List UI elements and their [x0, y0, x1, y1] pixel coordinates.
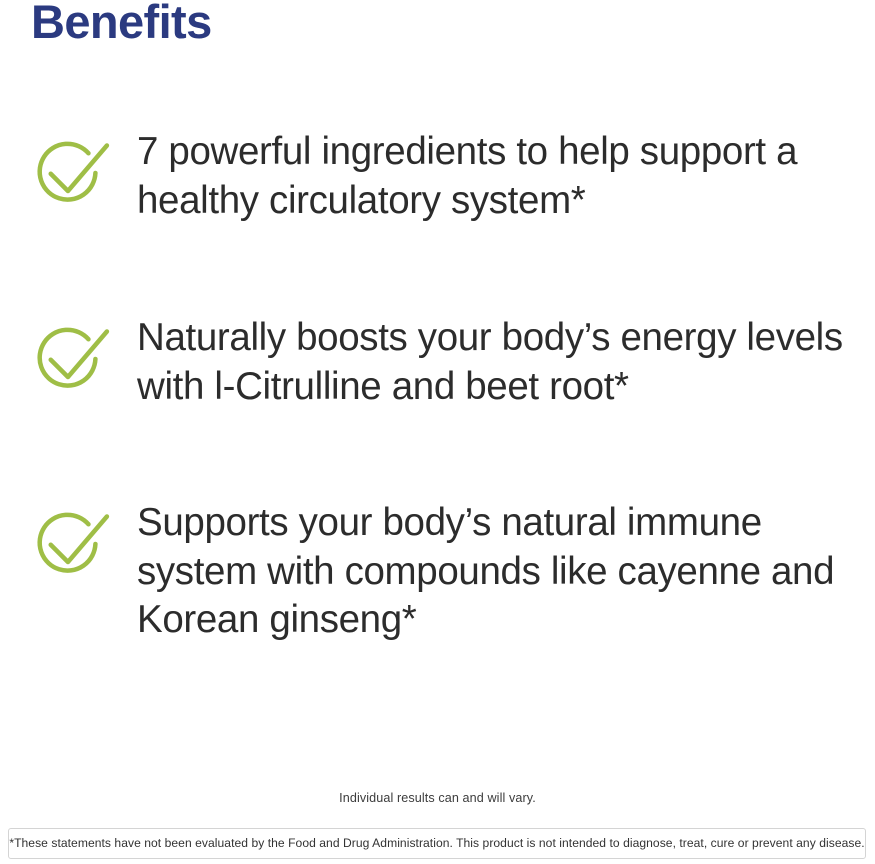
page-title: Benefits — [31, 0, 212, 49]
benefit-item: Supports your body’s natural immune syst… — [0, 499, 875, 645]
benefits-list: 7 powerful ingredients to help support a… — [0, 128, 875, 645]
fda-disclaimer-text: *These statements have not been evaluate… — [9, 836, 864, 851]
benefit-text: Supports your body’s natural immune syst… — [137, 499, 872, 645]
individual-results-note: Individual results can and will vary. — [0, 790, 875, 806]
benefit-text: 7 powerful ingredients to help support a… — [137, 128, 872, 225]
check-circle-icon — [29, 134, 111, 216]
benefits-panel: Benefits 7 powerful ingredients to help … — [0, 0, 875, 864]
benefit-item: 7 powerful ingredients to help support a… — [0, 128, 875, 225]
check-circle-icon — [29, 320, 111, 402]
check-circle-icon — [29, 505, 111, 587]
fda-disclaimer-box: *These statements have not been evaluate… — [8, 828, 866, 859]
benefit-text: Naturally boosts your body’s energy leve… — [137, 314, 872, 411]
benefit-item: Naturally boosts your body’s energy leve… — [0, 314, 875, 411]
